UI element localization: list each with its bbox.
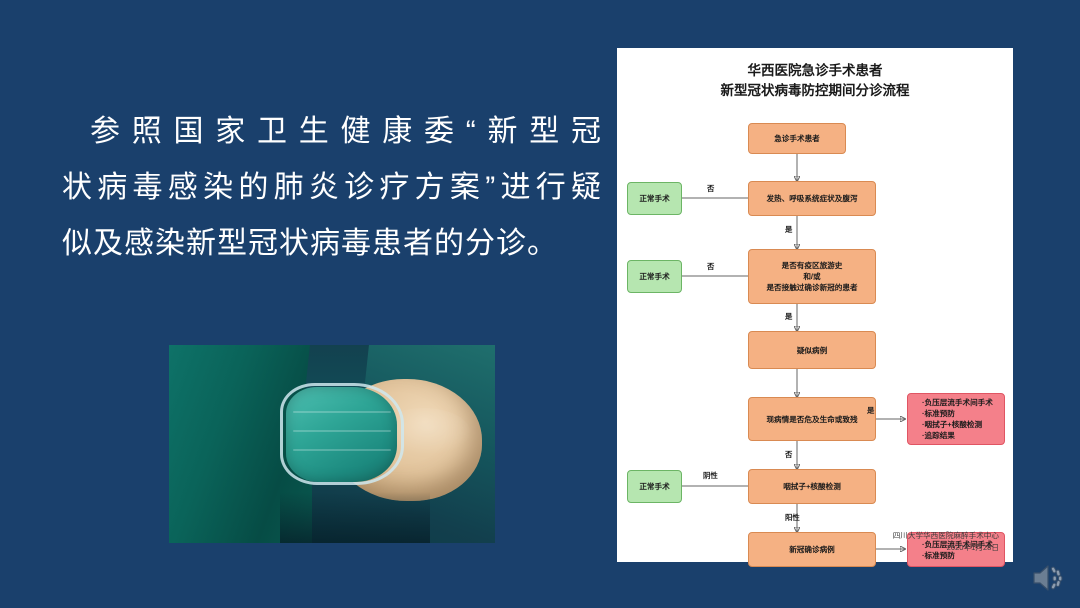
headline-line-1: 参照国家卫生健康委“新型冠 (62, 104, 602, 160)
edge-label-no-1: 否 (707, 183, 714, 194)
flowchart-title: 华西医院急诊手术患者 新型冠状病毒防控期间分诊流程 (617, 61, 1013, 101)
flowchart-footer-org: 四川大学华西医院麻醉手术中心 (893, 530, 999, 542)
surgical-mask (286, 387, 397, 482)
flow-node-label: 正常手术 (639, 193, 669, 204)
flow-node-label-line-4: ·追踪结果 (922, 430, 1000, 441)
headline-line-2: 状病毒感染的肺炎诊疗方案”进行疑 (62, 160, 602, 216)
flow-node-label-group: ·负压层流手术间手术 ·标准预防 ·咽拭子+核酸检测 ·追踪结果 (912, 397, 1000, 441)
flow-node-suspected-case[interactable]: 疑似病例 (748, 331, 876, 369)
flowchart-card: 华西医院急诊手术患者 新型冠状病毒防控期间分诊流程 (617, 48, 1013, 562)
flow-node-label-line-1: ·负压层流手术间手术 (922, 397, 1000, 408)
flow-node-confirmed-case[interactable]: 新冠确诊病例 (748, 532, 876, 567)
flowchart-footer-date: 2020年1月28日 (893, 542, 999, 554)
speaker-audio-icon[interactable] (1026, 556, 1070, 600)
edge-label-yes-2: 是 (785, 311, 792, 322)
edge-label-yes-1: 是 (785, 224, 792, 235)
flow-node-emergency-patient[interactable]: 急诊手术患者 (748, 123, 846, 154)
edge-label-no-3: 否 (785, 449, 792, 460)
patient-photo (169, 345, 495, 543)
flow-node-label: 现病情是否危及生命或致残 (766, 414, 857, 425)
flow-node-swab-test[interactable]: 咽拭子+核酸检测 (748, 469, 876, 504)
mask-pleat (293, 411, 391, 413)
flow-node-normal-surgery-1[interactable]: 正常手术 (627, 182, 682, 215)
edge-label-yes-3: 是 (867, 405, 874, 416)
mask-pleat (293, 449, 391, 451)
flow-node-label: 正常手术 (639, 481, 669, 492)
flow-node-label-group: 是否有疫区旅游史 和/或 是否接触过确诊新冠的患者 (766, 260, 857, 293)
flow-node-negative-pressure-full[interactable]: ·负压层流手术间手术 ·标准预防 ·咽拭子+核酸检测 ·追踪结果 (907, 393, 1005, 445)
flow-node-label-line-2: ·标准预防 (922, 408, 1000, 419)
flowchart-footer: 四川大学华西医院麻醉手术中心 2020年1月28日 (893, 530, 999, 554)
flow-node-travel-contact-history[interactable]: 是否有疫区旅游史 和/或 是否接触过确诊新冠的患者 (748, 249, 876, 304)
flow-node-label-line-2: 和/或 (766, 271, 857, 282)
page-title: 参照国家卫生健康委“新型冠 状病毒感染的肺炎诊疗方案”进行疑 似及感染新型冠状病… (62, 104, 602, 272)
photo-shadow (280, 492, 430, 543)
flow-node-normal-surgery-3[interactable]: 正常手术 (627, 470, 682, 503)
slide-root: 参照国家卫生健康委“新型冠 状病毒感染的肺炎诊疗方案”进行疑 似及感染新型冠状病… (0, 0, 1080, 608)
flowchart-title-line-2: 新型冠状病毒防控期间分诊流程 (617, 81, 1013, 101)
flow-node-label: 新冠确诊病例 (789, 544, 835, 555)
flow-node-life-threatening[interactable]: 现病情是否危及生命或致残 (748, 397, 876, 441)
flow-node-label: 急诊手术患者 (774, 133, 820, 144)
flow-node-label-line-1: 是否有疫区旅游史 (766, 260, 857, 271)
mask-pleat (293, 430, 391, 432)
flow-node-normal-surgery-2[interactable]: 正常手术 (627, 260, 682, 293)
flow-node-label: 正常手术 (639, 271, 669, 282)
edge-label-positive: 阳性 (785, 512, 800, 523)
edge-label-no-2: 否 (707, 261, 714, 272)
flow-node-label: 咽拭子+核酸检测 (783, 481, 841, 492)
flowchart-title-line-1: 华西医院急诊手术患者 (617, 61, 1013, 81)
headline-line-3: 似及感染新型冠状病毒患者的分诊。 (62, 216, 602, 272)
flow-node-label: 疑似病例 (797, 345, 827, 356)
flow-node-label-line-3: 是否接触过确诊新冠的患者 (766, 282, 857, 293)
flow-node-label: 发热、呼吸系统症状及腹泻 (766, 193, 857, 204)
flow-node-label-line-3: ·咽拭子+核酸检测 (922, 419, 1000, 430)
flowchart-canvas: 急诊手术患者 发热、呼吸系统症状及腹泻 是否有疫区旅游史 和/或 是否接触过确诊… (617, 101, 1013, 571)
edge-label-negative: 阴性 (703, 470, 718, 481)
flow-node-symptoms[interactable]: 发热、呼吸系统症状及腹泻 (748, 181, 876, 216)
